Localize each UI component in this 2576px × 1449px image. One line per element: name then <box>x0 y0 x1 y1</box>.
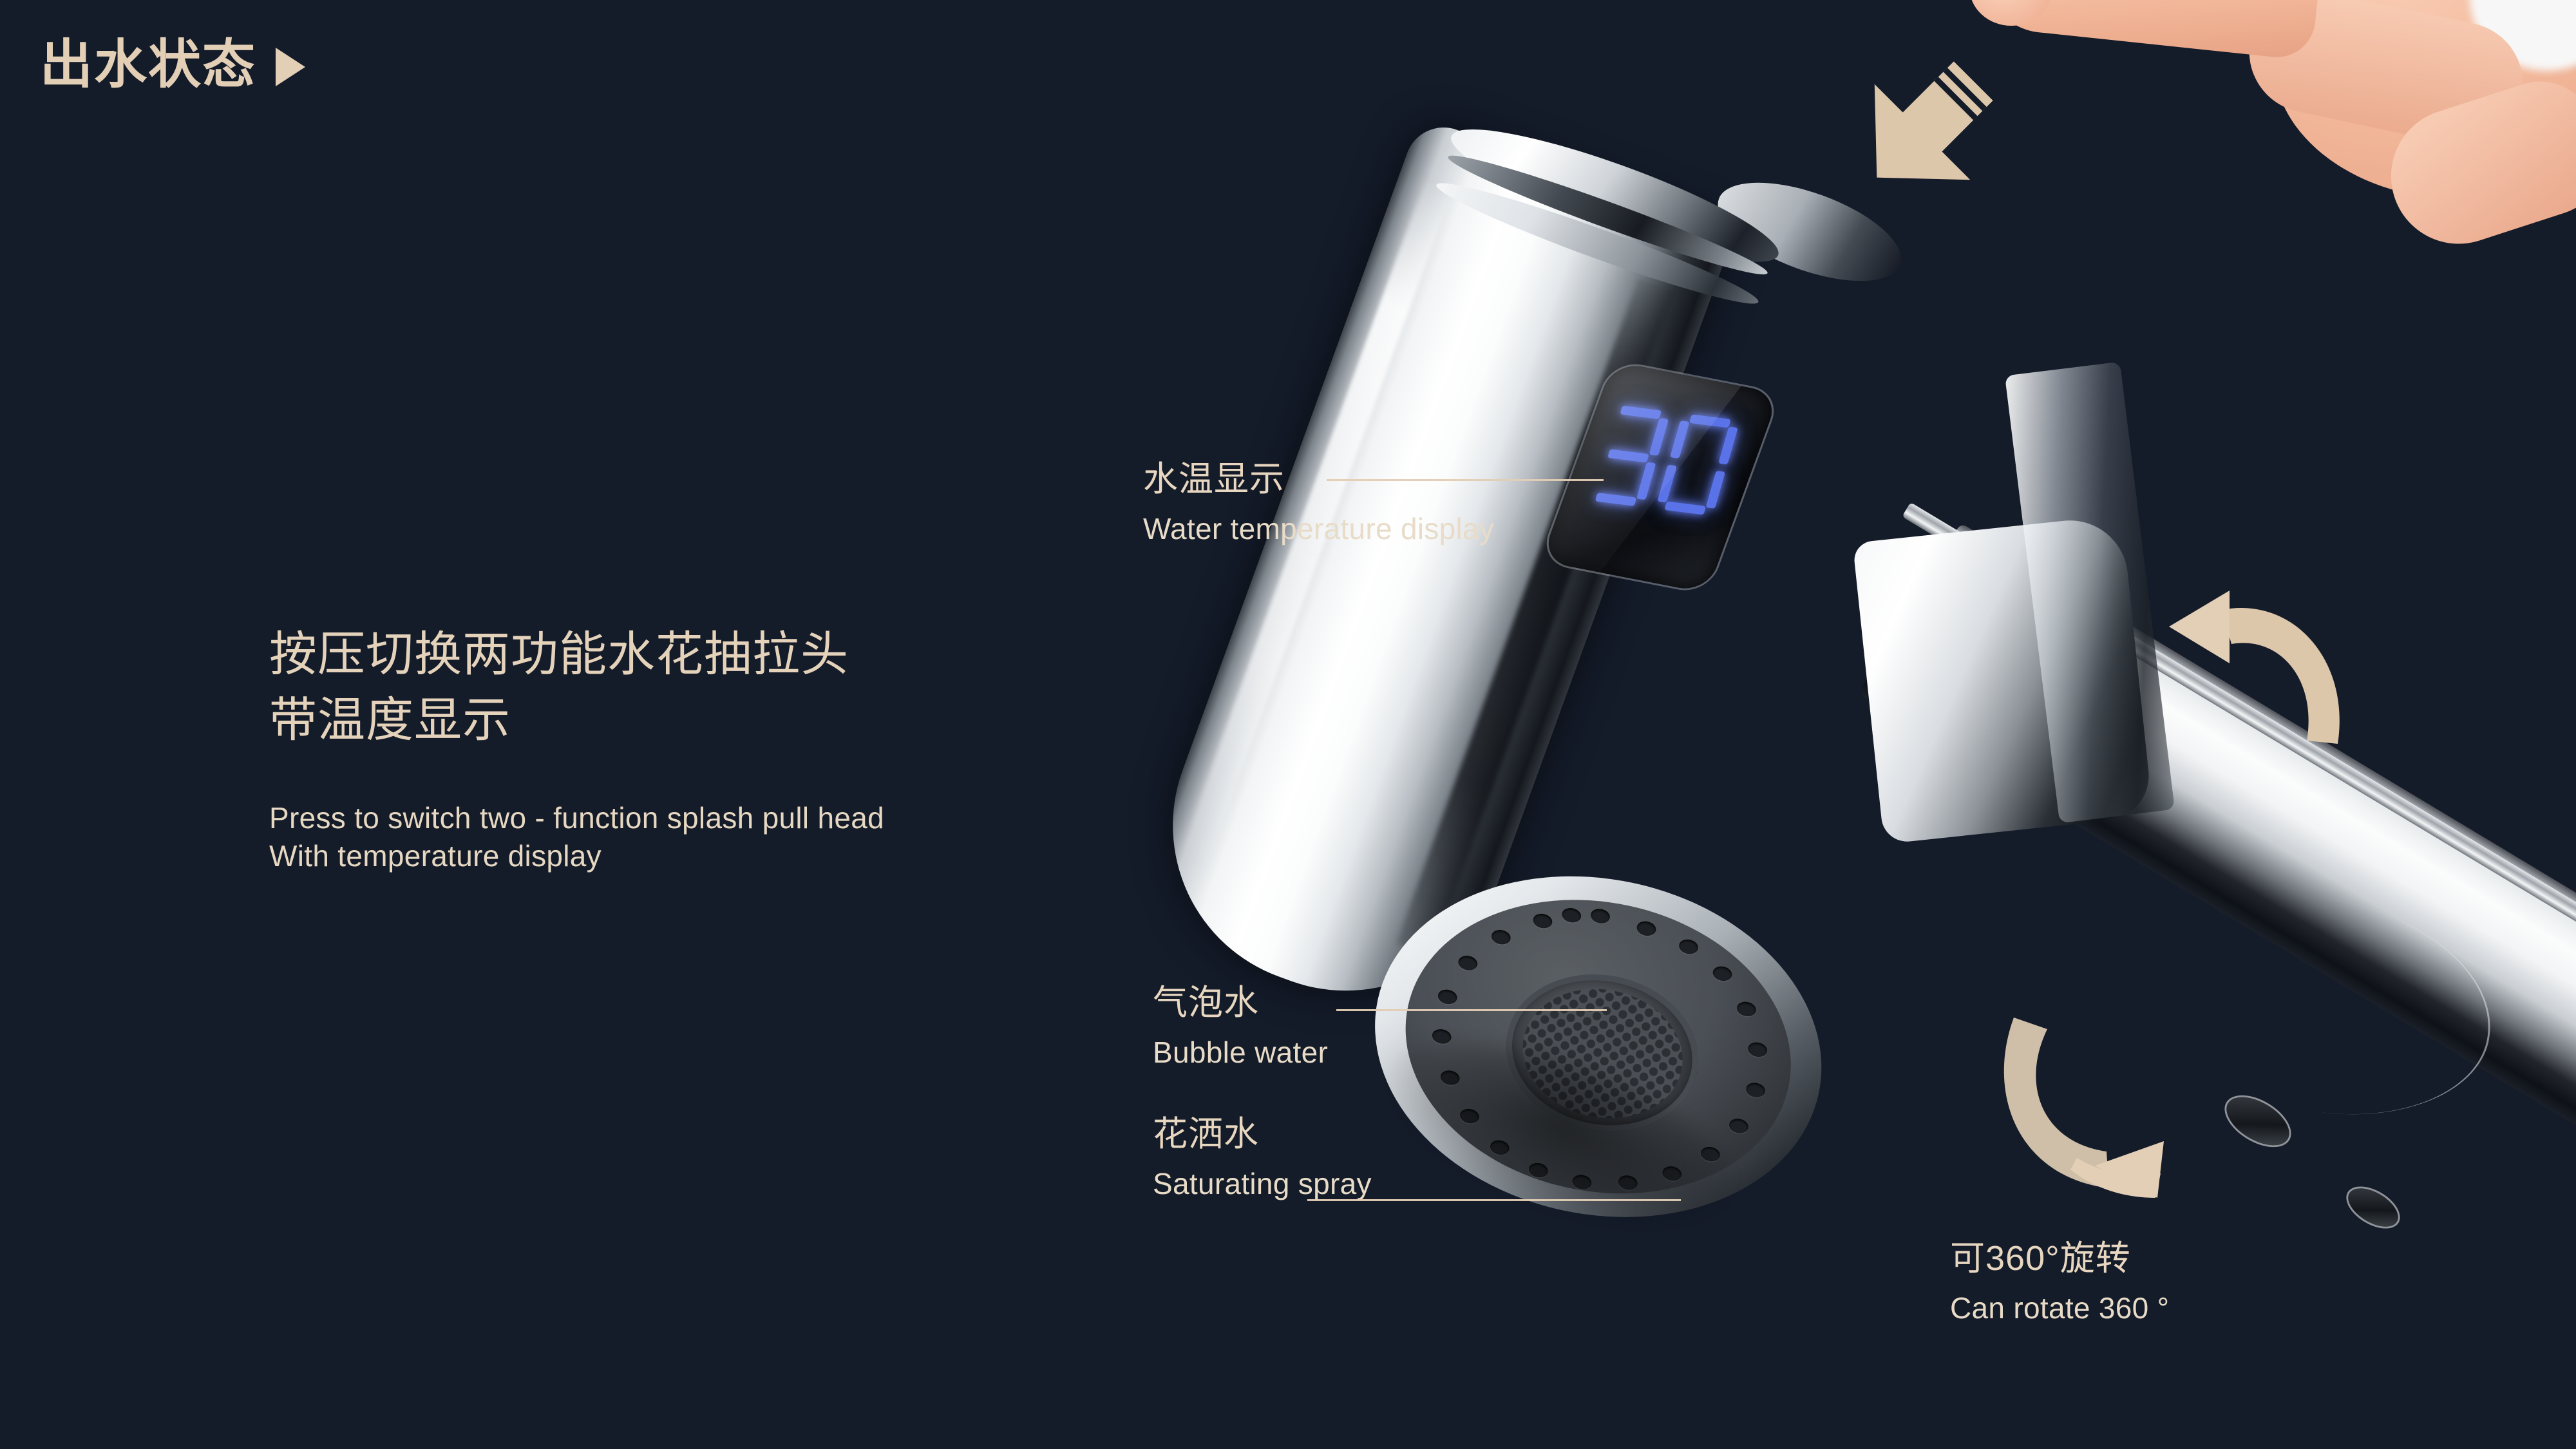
rotate-counterclockwise-arrow-icon <box>2145 583 2351 776</box>
callout-en-label: Bubble water <box>1153 1034 1328 1072</box>
callout-cn-label: 可360°旋转 <box>1950 1238 2169 1280</box>
leader-line-bubble-water <box>1336 1009 1607 1011</box>
callout-water-temperature-display: 水温显示 Water temperature display <box>1143 459 1494 547</box>
callout-cn-label: 气泡水 <box>1153 983 1328 1024</box>
pointing-hand-icon <box>2177 0 2576 303</box>
leader-line-water-temperature <box>1327 479 1604 481</box>
rotate-clockwise-arrow-icon <box>1980 1005 2206 1204</box>
leader-line-saturating-spray <box>1307 1199 1681 1201</box>
callout-en-label: Can rotate 360 ° <box>1950 1290 2169 1327</box>
headline-en-line-2: With temperature display <box>269 837 1171 875</box>
headline-cn-line-2: 带温度显示 <box>269 687 1171 753</box>
callout-bubble-water: 气泡水 Bubble water <box>1153 983 1328 1071</box>
callout-cn-label: 花洒水 <box>1153 1114 1372 1155</box>
callout-en-label: Saturating spray <box>1153 1166 1372 1203</box>
headline-block: 按压切换两功能水花抽拉头 带温度显示 Press to switch two -… <box>269 621 1171 875</box>
callout-en-label: Water temperature display <box>1143 511 1494 548</box>
faucet-arm-slot <box>2342 1180 2404 1235</box>
callout-rotate-360: 可360°旋转 Can rotate 360 ° <box>1950 1238 2169 1327</box>
headline-en-line-1: Press to switch two - function splash pu… <box>269 799 1171 837</box>
product-feature-slide: 出水状态 <box>0 0 2576 1449</box>
headline-cn-line-1: 按压切换两功能水花抽拉头 <box>269 621 1171 687</box>
press-down-arrow-icon <box>1830 33 2022 225</box>
callout-saturating-spray: 花洒水 Saturating spray <box>1153 1114 1372 1202</box>
